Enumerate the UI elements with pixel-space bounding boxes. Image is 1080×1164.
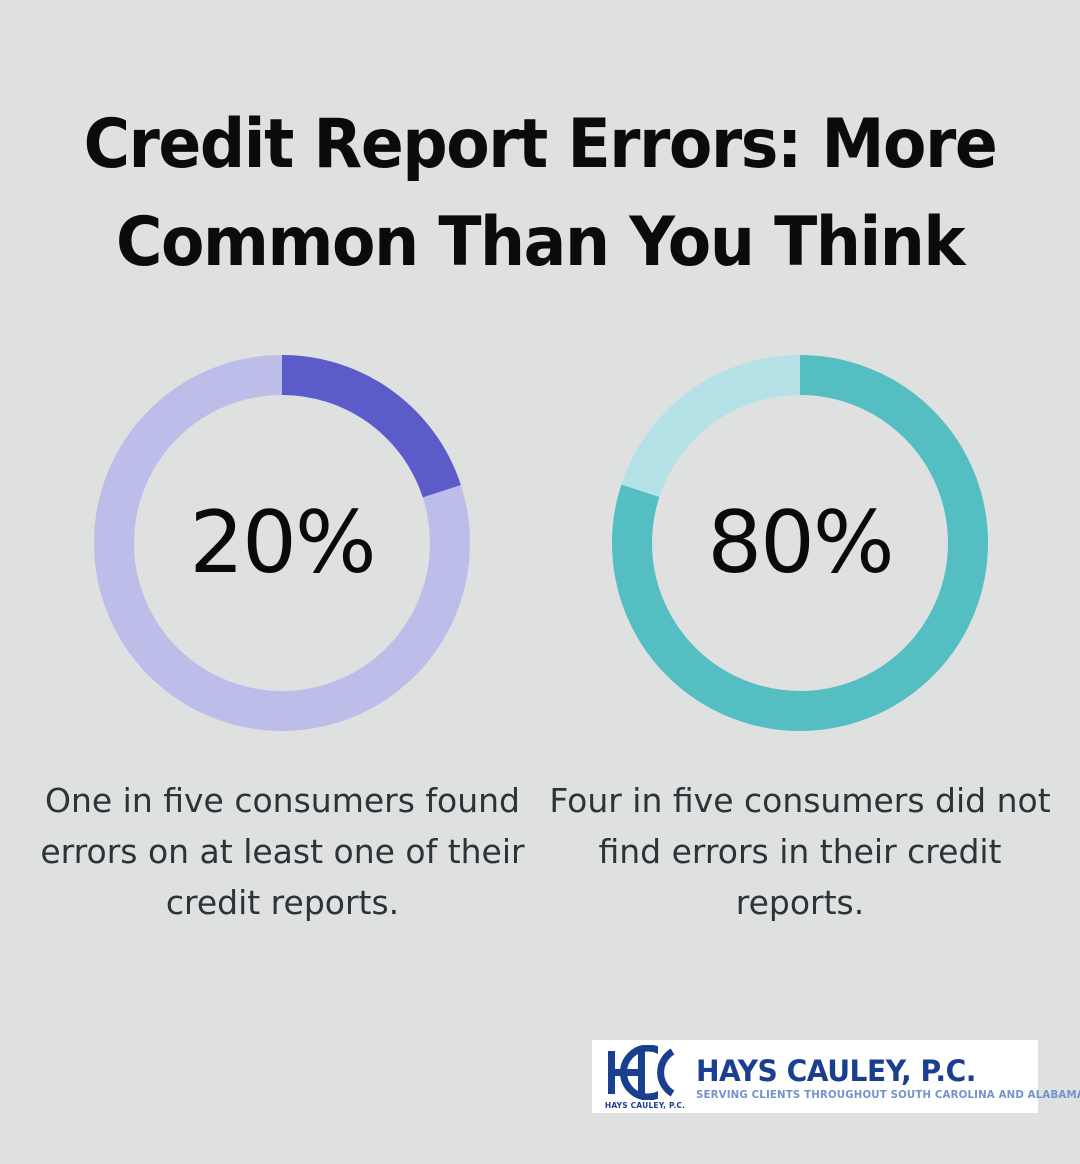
donut-chart-right: 80%: [612, 355, 988, 731]
donut-value-label-left: 20%: [94, 355, 470, 731]
logo-tagline: SERVING CLIENTS THROUGHOUT SOUTH CAROLIN…: [696, 1087, 1080, 1103]
logo-mark-caption: HAYS CAULEY, P.C.: [597, 1101, 693, 1110]
hc-monogram-icon: [602, 1045, 690, 1100]
logo-text-column: HAYS CAULEY, P.C. SERVING CLIENTS THROUG…: [696, 1040, 1080, 1103]
caption-group: One in five consumers found errors on at…: [0, 775, 1080, 945]
donut-value-label-right: 80%: [612, 355, 988, 731]
logo-firm-name: HAYS CAULEY, P.C.: [696, 1056, 1080, 1087]
donut-chart-group: 20% 80%: [0, 355, 1080, 735]
page-title: Credit Report Errors: More Common Than Y…: [0, 96, 1080, 292]
caption-right: Four in five consumers did not find erro…: [545, 775, 1055, 928]
logo-mark-column: HAYS CAULEY, P.C.: [592, 1040, 696, 1113]
title-line-1: Credit Report Errors: More: [38, 96, 1042, 194]
donut-chart-left: 20%: [94, 355, 470, 731]
logo-card[interactable]: HAYS CAULEY, P.C. HAYS CAULEY, P.C. SERV…: [592, 1040, 1038, 1113]
title-line-2: Common Than You Think: [38, 194, 1042, 292]
caption-left: One in five consumers found errors on at…: [30, 775, 535, 928]
